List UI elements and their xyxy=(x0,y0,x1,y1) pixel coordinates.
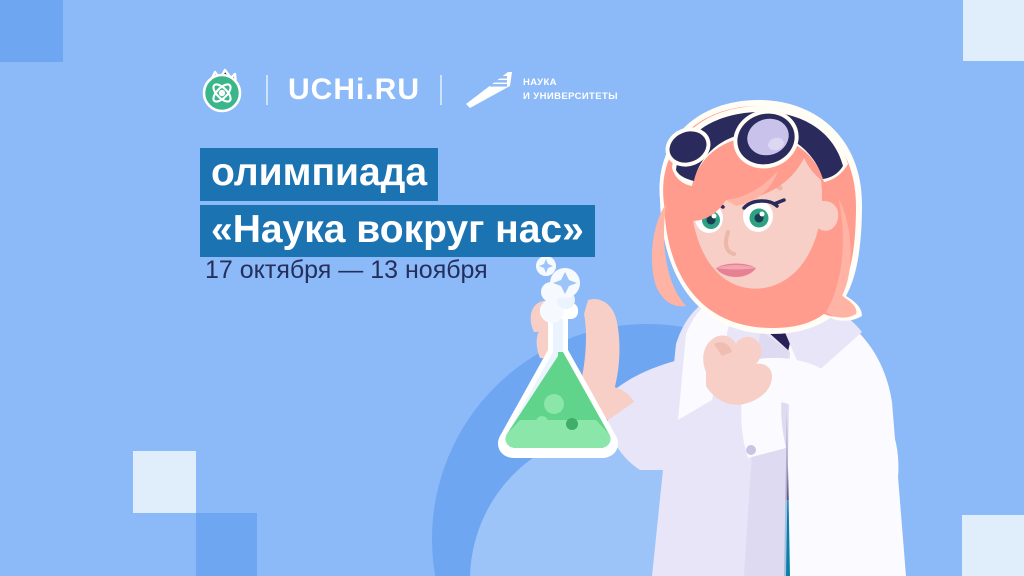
uchi-atom-mountain-icon[interactable] xyxy=(198,66,246,114)
headline-line-1: олимпиада xyxy=(200,148,438,201)
national-projects-flag-icon xyxy=(462,70,514,110)
brand-wordmark[interactable]: UCHi.RU xyxy=(288,75,420,105)
coat-cuff-button xyxy=(746,445,756,455)
headline-block: олимпиада «Наука вокруг нас» xyxy=(200,148,595,257)
np-line-2: И УНИВЕРСИТЕТЫ xyxy=(523,90,618,104)
divider-icon-2 xyxy=(440,75,442,105)
bubble-icon xyxy=(544,394,564,414)
promo-banner: UCHi.RU НАУКА И УНИВЕРСИТЕТЫ о xyxy=(0,0,1024,576)
header-logo-row: UCHi.RU НАУКА И УНИВЕРСИТЕТЫ xyxy=(198,62,618,118)
divider-icon-1 xyxy=(266,75,268,105)
np-line-1: НАУКА xyxy=(523,76,618,90)
date-range: 17 октября — 13 ноября xyxy=(205,256,488,285)
headline-line-2: «Наука вокруг нас» xyxy=(200,205,595,258)
bubble-icon xyxy=(566,418,578,430)
bubble-icon xyxy=(536,416,548,428)
national-projects-logo[interactable]: НАУКА И УНИВЕРСИТЕТЫ xyxy=(462,68,618,112)
national-projects-caption: НАУКА И УНИВЕРСИТЕТЫ xyxy=(523,76,618,104)
eye-highlight-right xyxy=(760,212,765,217)
